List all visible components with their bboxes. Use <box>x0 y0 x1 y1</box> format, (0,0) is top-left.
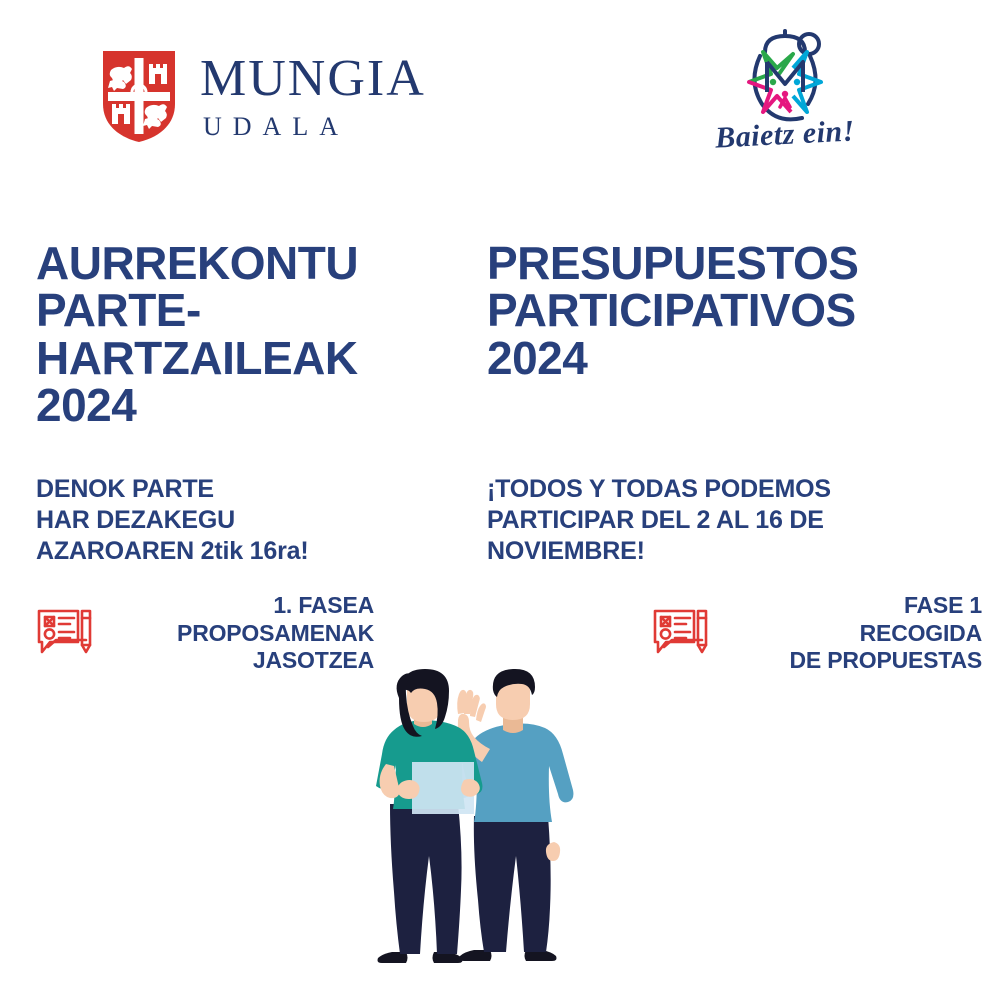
spanish-phase-line-1: FASE 1 <box>728 592 982 620</box>
spanish-headline-line-2: PARTICIPATIVOS <box>487 287 957 334</box>
spanish-headline-line-3: 2024 <box>487 335 957 382</box>
spanish-headline-line-1: PRESUPUESTOS <box>487 240 957 287</box>
basque-headline-block: AURREKONTU PARTE- HARTZAILEAK 2024 <box>36 240 466 430</box>
man-waving-figure <box>452 669 573 961</box>
basque-phase-line-1: 1. FASEA <box>112 592 374 620</box>
baietz-ein-logo: Baietz ein! <box>705 22 865 167</box>
spanish-subheading-line-1: ¡TODOS Y TODAS PODEMOS <box>487 474 957 505</box>
basque-phase-line-3: JASOTZEA <box>112 647 374 675</box>
spanish-phase-block: FASE 1 RECOGIDA DE PROPUESTAS <box>650 592 982 675</box>
basque-subheading: DENOK PARTE HAR DEZAKEGU AZAROAREN 2tik … <box>36 474 466 567</box>
mungia-coat-of-arms-icon <box>100 48 178 144</box>
baietz-tagline: Baietz ein! <box>704 114 866 156</box>
basque-subheading-line-1: DENOK PARTE <box>36 474 466 505</box>
proposal-form-pencil-icon <box>34 602 96 664</box>
spanish-phase-line-3: DE PROPUESTAS <box>728 647 982 675</box>
basque-headline: AURREKONTU PARTE- HARTZAILEAK 2024 <box>36 240 466 430</box>
basque-subheading-line-2: HAR DEZAKEGU <box>36 505 466 536</box>
spanish-headline: PRESUPUESTOS PARTICIPATIVOS 2024 <box>487 240 957 382</box>
basque-phase-block: 1. FASEA PROPOSAMENAK JASOTZEA <box>34 592 374 675</box>
basque-phase-line-2: PROPOSAMENAK <box>112 620 374 648</box>
poster-canvas: MUNGIA UDALA <box>0 0 1000 1000</box>
basque-headline-line-1: AURREKONTU <box>36 240 466 287</box>
spanish-headline-block: PRESUPUESTOS PARTICIPATIVOS 2024 <box>487 240 957 382</box>
mungia-wordmark-main: MUNGIA <box>200 54 426 104</box>
basque-headline-line-2: PARTE- <box>36 287 466 334</box>
mungia-wordmark-sub: UDALA <box>203 112 426 142</box>
mungia-wordmark: MUNGIA UDALA <box>200 50 426 142</box>
two-people-with-proposal-sheet-illustration <box>370 668 606 968</box>
spanish-subheading-line-3: NOVIEMBRE! <box>487 536 957 567</box>
spanish-subheading-line-2: PARTICIPAR DEL 2 AL 16 DE <box>487 505 957 536</box>
baietz-star-mark-icon <box>705 22 865 122</box>
spanish-phase-line-2: RECOGIDA <box>728 620 982 648</box>
basque-headline-line-4: 2024 <box>36 382 466 429</box>
mungia-udala-logo: MUNGIA UDALA <box>100 48 426 144</box>
basque-headline-line-3: HARTZAILEAK <box>36 335 466 382</box>
spanish-phase-text: FASE 1 RECOGIDA DE PROPUESTAS <box>728 592 982 675</box>
spanish-subheading: ¡TODOS Y TODAS PODEMOS PARTICIPAR DEL 2 … <box>487 474 957 567</box>
basque-subheading-line-3: AZAROAREN 2tik 16ra! <box>36 536 466 567</box>
proposal-form-pencil-icon <box>650 602 712 664</box>
basque-phase-text: 1. FASEA PROPOSAMENAK JASOTZEA <box>112 592 374 675</box>
